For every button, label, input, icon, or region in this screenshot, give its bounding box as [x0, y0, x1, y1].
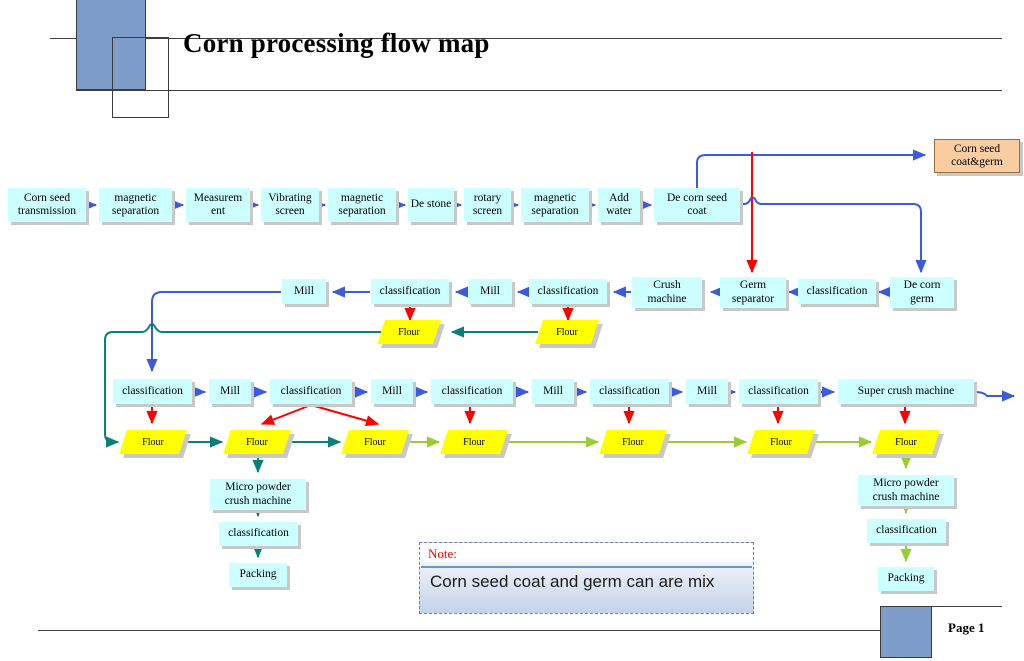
node-corn-seed-transmission[interactable]: Corn seed transmission [8, 188, 86, 222]
node-classification-r2-2[interactable]: classification [529, 279, 607, 304]
flour-r3-5[interactable]: Flour [603, 430, 663, 454]
node-classification-r3-2[interactable]: classification [270, 379, 352, 404]
node-classification-r3-4[interactable]: classification [590, 379, 669, 404]
node-super-crush-machine[interactable]: Super crush machine [838, 379, 974, 404]
node-mill-r3-4[interactable]: Mill [686, 379, 728, 404]
flour-label: Flour [444, 430, 504, 454]
node-micro-powder-crush-machine-left[interactable]: Micro powder crush machine [210, 479, 306, 510]
flour-r2-2[interactable]: Flour [539, 320, 595, 344]
note-body: Corn seed coat and germ can are mix [430, 572, 714, 592]
node-classification-r3-3[interactable]: classification [431, 379, 513, 404]
node-mill-r3-2[interactable]: Mill [371, 379, 413, 404]
node-vibrating-screen[interactable]: Vibrating screen [261, 188, 319, 222]
flour-label: Flour [876, 430, 936, 454]
node-packing-right[interactable]: Packing [878, 567, 934, 591]
node-micro-powder-crush-machine-right[interactable]: Micro powder crush machine [858, 475, 954, 506]
node-mill-r2-2[interactable]: Mill [468, 279, 512, 304]
node-mill-r3-1[interactable]: Mill [209, 379, 251, 404]
node-de-stone[interactable]: De stone [408, 188, 454, 222]
flour-r3-7[interactable]: Flour [876, 430, 936, 454]
node-crush-machine[interactable]: Crush machine [632, 277, 702, 308]
node-mill-r2-1[interactable]: Mill [282, 279, 326, 304]
node-classification-r2-1[interactable]: classification [371, 279, 449, 304]
flour-r3-6[interactable]: Flour [751, 430, 811, 454]
node-classification-r3-1[interactable]: classification [113, 379, 192, 404]
node-classification-r3-5[interactable]: classification [739, 379, 818, 404]
node-magnetic-separation-3[interactable]: magnetic separation [521, 188, 589, 222]
node-magnetic-separation-1[interactable]: magnetic separation [99, 188, 172, 222]
flour-r3-2[interactable]: Flour [227, 430, 287, 454]
flow-map-page: Corn processing flow map [0, 0, 1024, 661]
node-add-water[interactable]: Add water [598, 188, 640, 222]
node-classification-left[interactable]: classification [219, 522, 298, 546]
flour-r3-4[interactable]: Flour [444, 430, 504, 454]
flour-r3-1[interactable]: Flour [123, 430, 183, 454]
note-divider [421, 566, 752, 568]
flour-label: Flour [123, 430, 183, 454]
note-box: Note: Corn seed coat and germ can are mi… [419, 542, 754, 614]
node-classification-r2-3[interactable]: classification [798, 279, 876, 304]
node-packing-left[interactable]: Packing [229, 563, 287, 587]
flour-label: Flour [751, 430, 811, 454]
node-rotary-screen[interactable]: rotary screen [464, 188, 511, 222]
flour-r2-1[interactable]: Flour [381, 320, 437, 344]
node-germ-separator[interactable]: Germ separator [720, 277, 786, 308]
node-mill-r3-3[interactable]: Mill [532, 379, 574, 404]
node-de-corn-germ[interactable]: De corn germ [890, 277, 954, 308]
node-de-corn-seed-coat[interactable]: De corn seed coat [654, 188, 740, 222]
note-title: Note: [428, 546, 457, 562]
node-corn-seed-coat-and-germ[interactable]: Corn seed coat&germ [934, 139, 1020, 173]
node-classification-right[interactable]: classification [867, 519, 946, 543]
node-magnetic-separation-2[interactable]: magnetic separation [328, 188, 396, 222]
flour-label: Flour [227, 430, 287, 454]
node-measurement[interactable]: Measurem ent [186, 188, 250, 222]
flour-r3-3[interactable]: Flour [345, 430, 405, 454]
flour-label: Flour [345, 430, 405, 454]
flour-label: Flour [381, 320, 437, 344]
flour-label: Flour [539, 320, 595, 344]
flour-label: Flour [603, 430, 663, 454]
